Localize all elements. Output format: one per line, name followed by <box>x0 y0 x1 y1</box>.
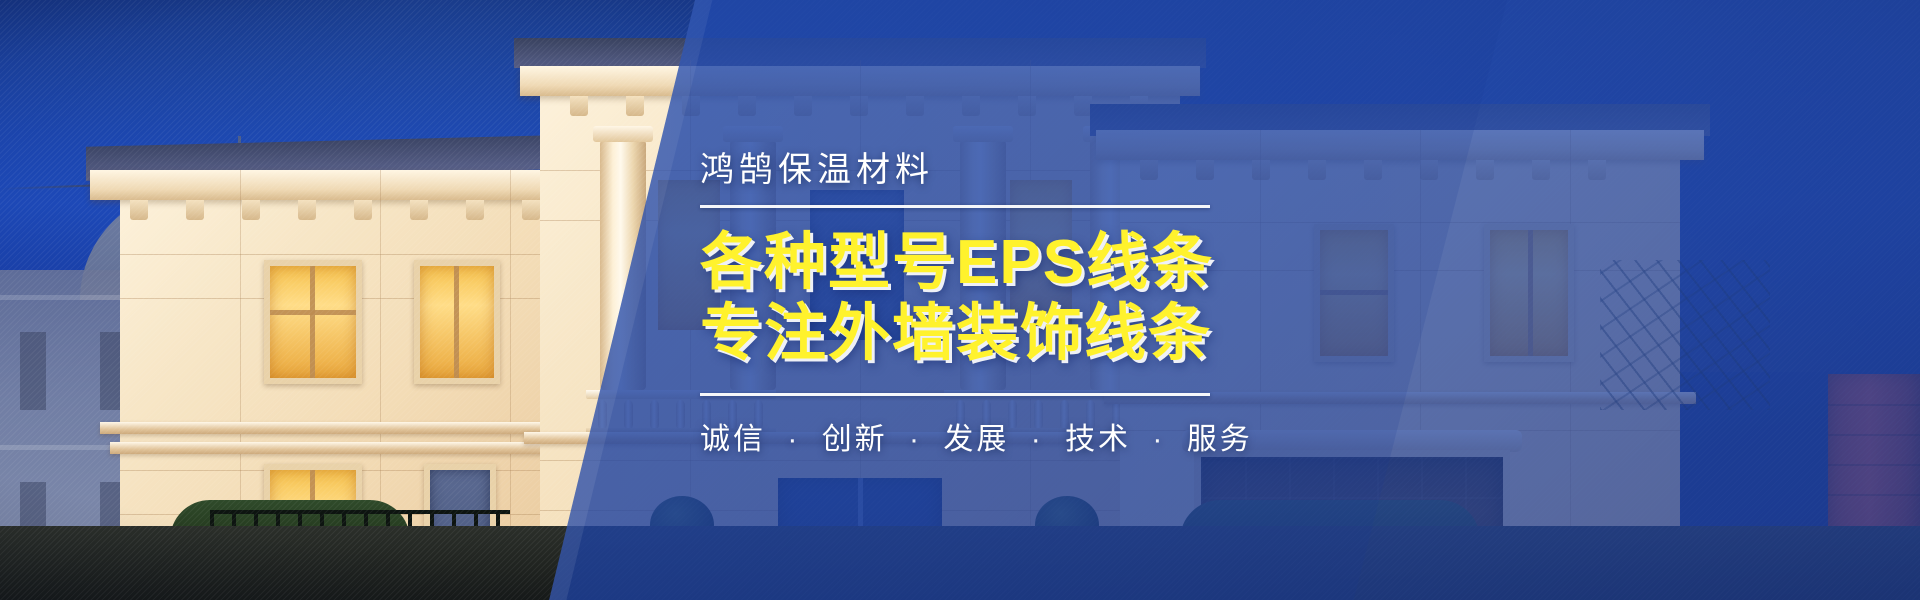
headline-line-1: 各种型号EPS线条 <box>700 228 1920 299</box>
tagline-item-2: 发展 <box>943 423 1009 456</box>
divider-bottom <box>700 393 1210 396</box>
divider-top <box>700 205 1210 208</box>
tagline-separator: · <box>1152 423 1165 456</box>
tagline-item-4: 服务 <box>1187 423 1253 456</box>
tagline-item-1: 创新 <box>822 423 888 456</box>
hero-banner: 鸿鹄保温材料 各种型号EPS线条 专注外墙装饰线条 诚信 · 创新 · 发展 ·… <box>0 0 1920 600</box>
headline-line-2: 专注外墙装饰线条 <box>700 299 1920 370</box>
tagline-item-3: 技术 <box>1065 423 1131 456</box>
tagline-separator: · <box>909 423 922 456</box>
brand-name: 鸿鹄保温材料 <box>700 142 1920 191</box>
tagline: 诚信 · 创新 · 发展 · 技术 · 服务 <box>700 414 1920 458</box>
tagline-separator: · <box>787 423 800 456</box>
tagline-item-0: 诚信 <box>700 423 766 456</box>
banner-text-content: 鸿鹄保温材料 各种型号EPS线条 专注外墙装饰线条 诚信 · 创新 · 发展 ·… <box>0 0 1920 600</box>
tagline-separator: · <box>1031 423 1044 456</box>
